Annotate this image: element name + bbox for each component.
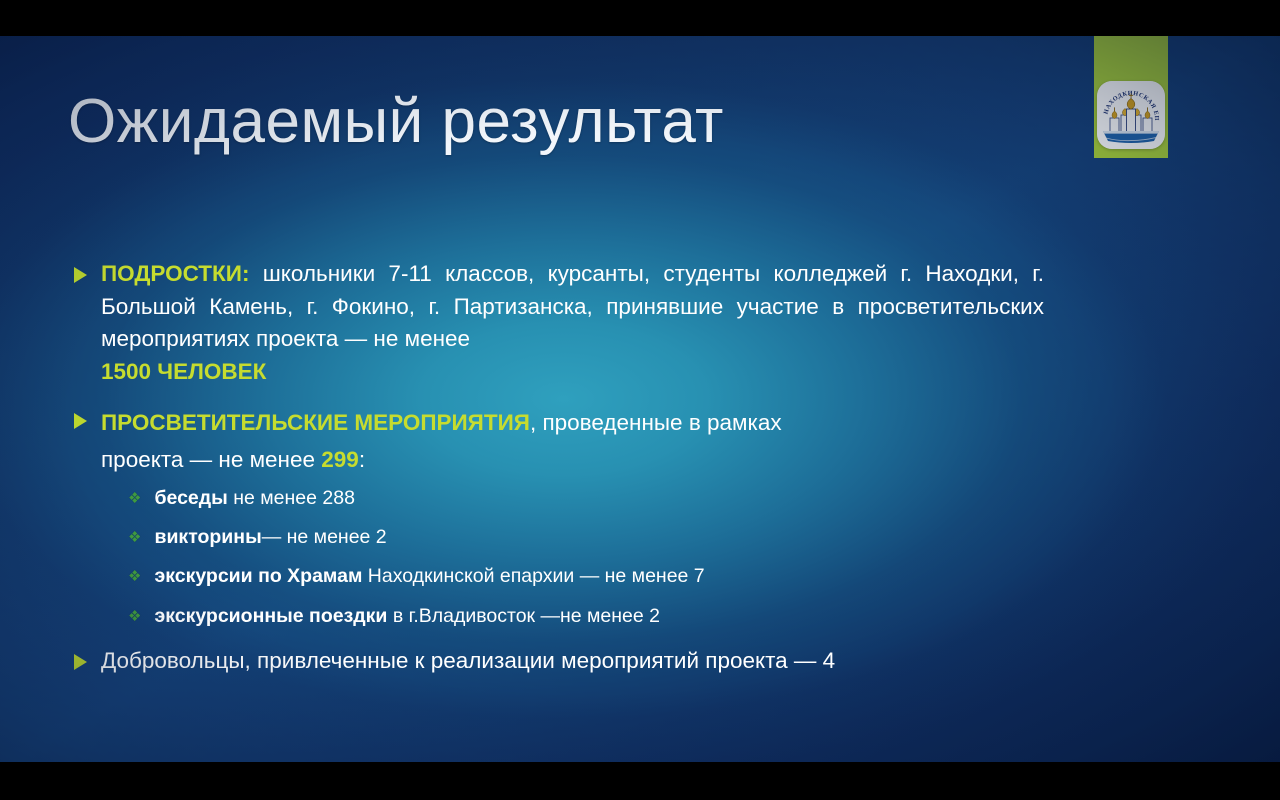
slide-canvas: НАХОДКИНСКАЯ ЕПАРХИЯ bbox=[0, 36, 1280, 762]
sub-bullet-ekskursii-rest: Находкинской епархии — не менее 7 bbox=[362, 565, 704, 587]
sub-bullet-besedy-rest: не менее 288 bbox=[228, 487, 355, 509]
slide-content: ПОДРОСТКИ: школьники 7-11 классов, курса… bbox=[0, 36, 1280, 762]
bullet-events-lead: ПРОСВЕТИТЕЛЬСКИЕ МЕРОПРИЯТИЯ bbox=[101, 410, 530, 435]
bullet-teens-lead: ПОДРОСТКИ: bbox=[101, 261, 249, 286]
sub-bullet-viktoriny-text: викторины— не менее 2 bbox=[154, 524, 386, 550]
sub-bullet-poezdki-lead: экскурсионные поездки bbox=[154, 605, 387, 627]
sub-bullet-viktoriny-lead: викторины bbox=[154, 526, 261, 548]
diamond-bullet-icon: ❖ bbox=[128, 569, 141, 584]
sub-bullet-besedy-text: беседы не менее 288 bbox=[154, 485, 354, 511]
presentation-slide: НАХОДКИНСКАЯ ЕПАРХИЯ bbox=[0, 0, 1280, 800]
bullet-teens-text: ПОДРОСТКИ: школьники 7-11 классов, курса… bbox=[101, 258, 1044, 388]
bullet-volunteers-text: Добровольцы, привлеченные к реализации м… bbox=[101, 645, 835, 677]
letterbox-bottom bbox=[0, 762, 1280, 800]
bullet-events-count: 299 bbox=[321, 447, 359, 472]
bullet-events-text: ПРОСВЕТИТЕЛЬСКИЕ МЕРОПРИЯТИЯ, проведенны… bbox=[101, 404, 782, 478]
bullet-events-body-1: , проведенные в рамках bbox=[530, 410, 782, 435]
sub-bullet-ekskursii-text: экскурсии по Храмам Находкинской епархии… bbox=[154, 563, 704, 589]
triangle-bullet-icon bbox=[74, 267, 87, 283]
diamond-bullet-icon: ❖ bbox=[128, 491, 141, 506]
bullet-teens: ПОДРОСТКИ: школьники 7-11 классов, курса… bbox=[74, 258, 1044, 388]
sub-bullet-ekskursii-lead: экскурсии по Храмам bbox=[154, 565, 362, 587]
sub-bullet-ekskursii: ❖ экскурсии по Храмам Находкинской епарх… bbox=[128, 563, 1028, 589]
sub-bullet-viktoriny-rest: — не менее 2 bbox=[262, 526, 387, 548]
sub-bullet-poezdki: ❖ экскурсионные поездки в г.Владивосток … bbox=[128, 603, 1028, 629]
letterbox-top bbox=[0, 0, 1280, 36]
triangle-bullet-icon bbox=[74, 654, 87, 670]
bullet-events-body-3: : bbox=[359, 447, 365, 472]
triangle-bullet-icon bbox=[74, 413, 87, 429]
sub-bullet-poezdki-rest: в г.Владивосток —не менее 2 bbox=[387, 605, 660, 627]
diamond-bullet-icon: ❖ bbox=[128, 530, 141, 545]
bullet-events-body-2: проекта — не менее bbox=[101, 447, 321, 472]
bullet-teens-emphasis: 1500 ЧЕЛОВЕК bbox=[101, 356, 1044, 389]
bullet-events: ПРОСВЕТИТЕЛЬСКИЕ МЕРОПРИЯТИЯ, проведенны… bbox=[74, 404, 1034, 478]
bullet-volunteers: Добровольцы, привлеченные к реализации м… bbox=[74, 645, 1074, 677]
sub-bullet-viktoriny: ❖ викторины— не менее 2 bbox=[128, 524, 1028, 550]
sub-bullet-besedy: ❖ беседы не менее 288 bbox=[128, 485, 1028, 511]
sub-bullet-besedy-lead: беседы bbox=[154, 487, 227, 509]
sub-bullet-poezdki-text: экскурсионные поездки в г.Владивосток —н… bbox=[154, 603, 660, 629]
diamond-bullet-icon: ❖ bbox=[128, 609, 141, 624]
